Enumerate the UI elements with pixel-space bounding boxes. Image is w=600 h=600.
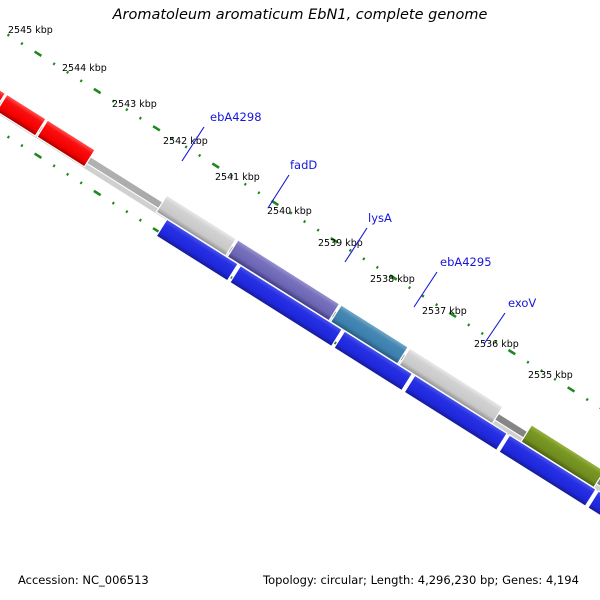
gene-label-lysa[interactable]: lysA xyxy=(368,211,392,225)
genome-summary-text: Topology: circular; Length: 4,296,230 bp… xyxy=(262,573,579,587)
gene-label-eba4295[interactable]: ebA4295 xyxy=(440,255,492,269)
ruler-dots-upper xyxy=(0,26,600,434)
gene-label-eba4298[interactable]: ebA4298 xyxy=(210,110,262,124)
ruler-tick-label: 2539 kbp xyxy=(318,238,363,249)
ruler-tick-label: 2544 kbp xyxy=(62,63,107,74)
ruler-tick-label: 2545 kbp xyxy=(8,25,53,36)
gene-label-exov[interactable]: exoV xyxy=(508,296,536,310)
genome-map-svg[interactable]: Aromatoleum aromaticum EbN1, complete ge… xyxy=(0,0,600,600)
ruler-tick-label: 2537 kbp xyxy=(422,306,467,317)
ruler-tick-label: 2538 kbp xyxy=(370,274,415,285)
gene-label-fadd[interactable]: fadD xyxy=(290,158,317,172)
ruler-tick-label: 2535 kbp xyxy=(528,370,573,381)
genome-diagram-canvas: Aromatoleum aromaticum EbN1, complete ge… xyxy=(0,0,600,600)
ruler-tick-label: 2541 kbp xyxy=(215,172,260,183)
ruler-tick-label: 2543 kbp xyxy=(112,99,157,110)
page-title: Aromatoleum aromaticum EbN1, complete ge… xyxy=(112,7,488,23)
leader-line-fadd xyxy=(268,175,289,208)
ruler-tick-label: 2542 kbp xyxy=(163,136,208,147)
ruler-dots-lower xyxy=(0,128,600,536)
gene-label-layer[interactable]: ebA4298 fadD lysA ebA4295 exoV xyxy=(182,110,536,344)
ruler-track-upper xyxy=(0,26,600,434)
ruler-tick-labels: 2545 kbp 2544 kbp 2543 kbp 2542 kbp 2541… xyxy=(8,25,573,381)
ruler-tick-label: 2536 kbp xyxy=(474,339,519,350)
accession-text: Accession: NC_006513 xyxy=(18,573,149,587)
leader-line-eba4295 xyxy=(414,272,437,307)
ruler-tick-label: 2540 kbp xyxy=(267,206,312,217)
ruler-track-lower xyxy=(0,128,600,536)
